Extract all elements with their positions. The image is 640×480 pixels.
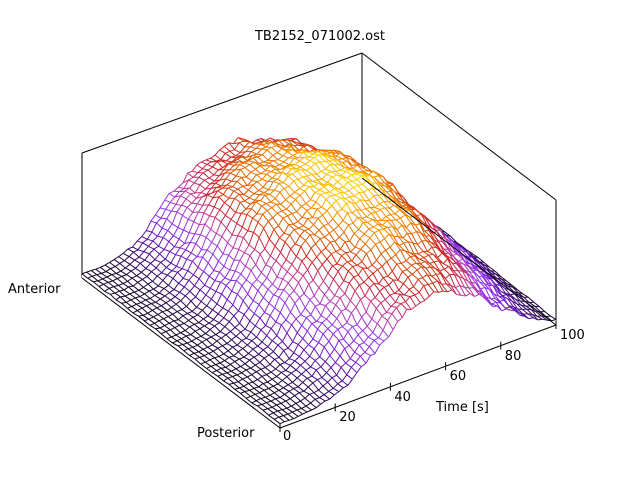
time-tick-label: 100 <box>560 328 585 343</box>
plot-canvas <box>0 0 640 480</box>
surface-wireframe <box>82 138 556 480</box>
time-tick-label: 40 <box>394 390 411 405</box>
time-tick-label: 80 <box>505 349 522 364</box>
surface-plot-figure: TB2152_071002.ost Anterior Posterior Tim… <box>0 0 640 480</box>
axis-label-anterior: Anterior <box>8 282 60 297</box>
axis-label-time: Time [s] <box>436 400 489 415</box>
axis-label-posterior: Posterior <box>197 426 254 441</box>
time-tick-label: 60 <box>450 369 467 384</box>
time-tick-label: 20 <box>339 410 356 425</box>
time-tick-label: 0 <box>283 429 291 444</box>
chart-title: TB2152_071002.ost <box>0 29 640 44</box>
